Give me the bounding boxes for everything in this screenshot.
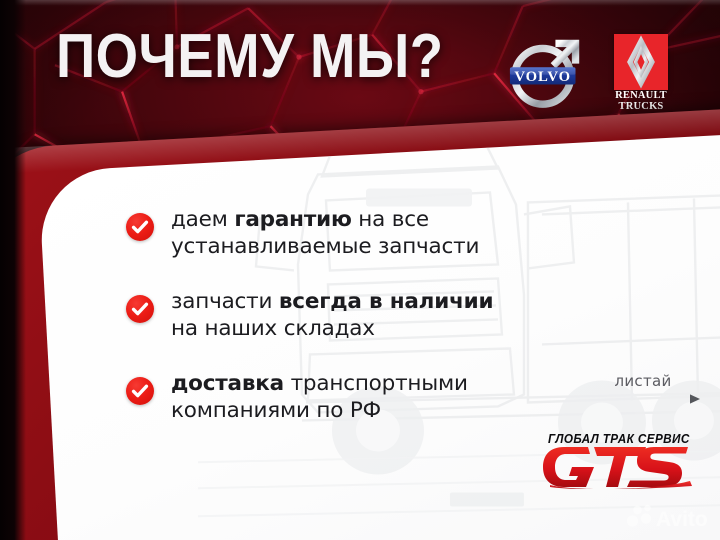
list-item-line1: доставка транспортными [171,370,468,397]
list-item-text: запчасти всегда в наличии на наших склад… [171,288,493,342]
gts-abbreviation-mark [542,445,692,489]
list-item-text: доставка транспортными компаниями по РФ [171,370,468,424]
list-item-line1: запчасти всегда в наличии [171,288,493,315]
top-sheen [0,0,720,8]
list-item: доставка транспортными компаниями по РФ [126,370,546,424]
list-item: запчасти всегда в наличии на наших склад… [126,288,546,342]
avito-watermark: Avito [626,503,714,531]
swipe-hint-label: листай [588,372,708,390]
swipe-hint: листай [588,372,708,390]
banner-canvas: ПОЧЕМУ МЫ? VOLVO [0,0,720,540]
renault-trucks-logo: RENAULT TRUCKS [608,34,674,114]
list-item-text: даем гарантию на все устанавливаемые зап… [171,206,479,260]
list-item-line1: даем гарантию на все [171,206,479,233]
gts-tagline: ГЛОБАЛ ТРАК СЕРВИС [548,432,690,446]
check-circle-icon [126,295,154,323]
volvo-wordmark: VOLVO [514,69,571,85]
renault-word-line2: TRUCKS [608,101,674,112]
renault-word-line1: RENAULT [608,90,674,101]
list-item-line2: устанавливаемые запчасти [171,233,479,260]
renault-wordmark: RENAULT TRUCKS [608,90,674,112]
gts-logo: ГЛОБАЛ ТРАК СЕРВИС [542,432,692,490]
check-circle-icon [126,213,154,241]
list-item-line2: компаниями по РФ [171,397,468,424]
list-item-line2: на наших складах [171,315,493,342]
list-item: даем гарантию на все устанавливаемые зап… [126,206,546,260]
renault-red-box [614,34,668,90]
page-title: ПОЧЕМУ МЫ? [56,26,444,88]
volvo-logo-icon: VOLVO [505,32,587,114]
arrow-right-icon [576,394,706,404]
benefits-list: даем гарантию на все устанавливаемые зап… [126,206,546,452]
avito-wordmark: Avito [656,508,708,531]
check-circle-icon [126,377,154,405]
renault-diamond-icon [614,34,668,90]
